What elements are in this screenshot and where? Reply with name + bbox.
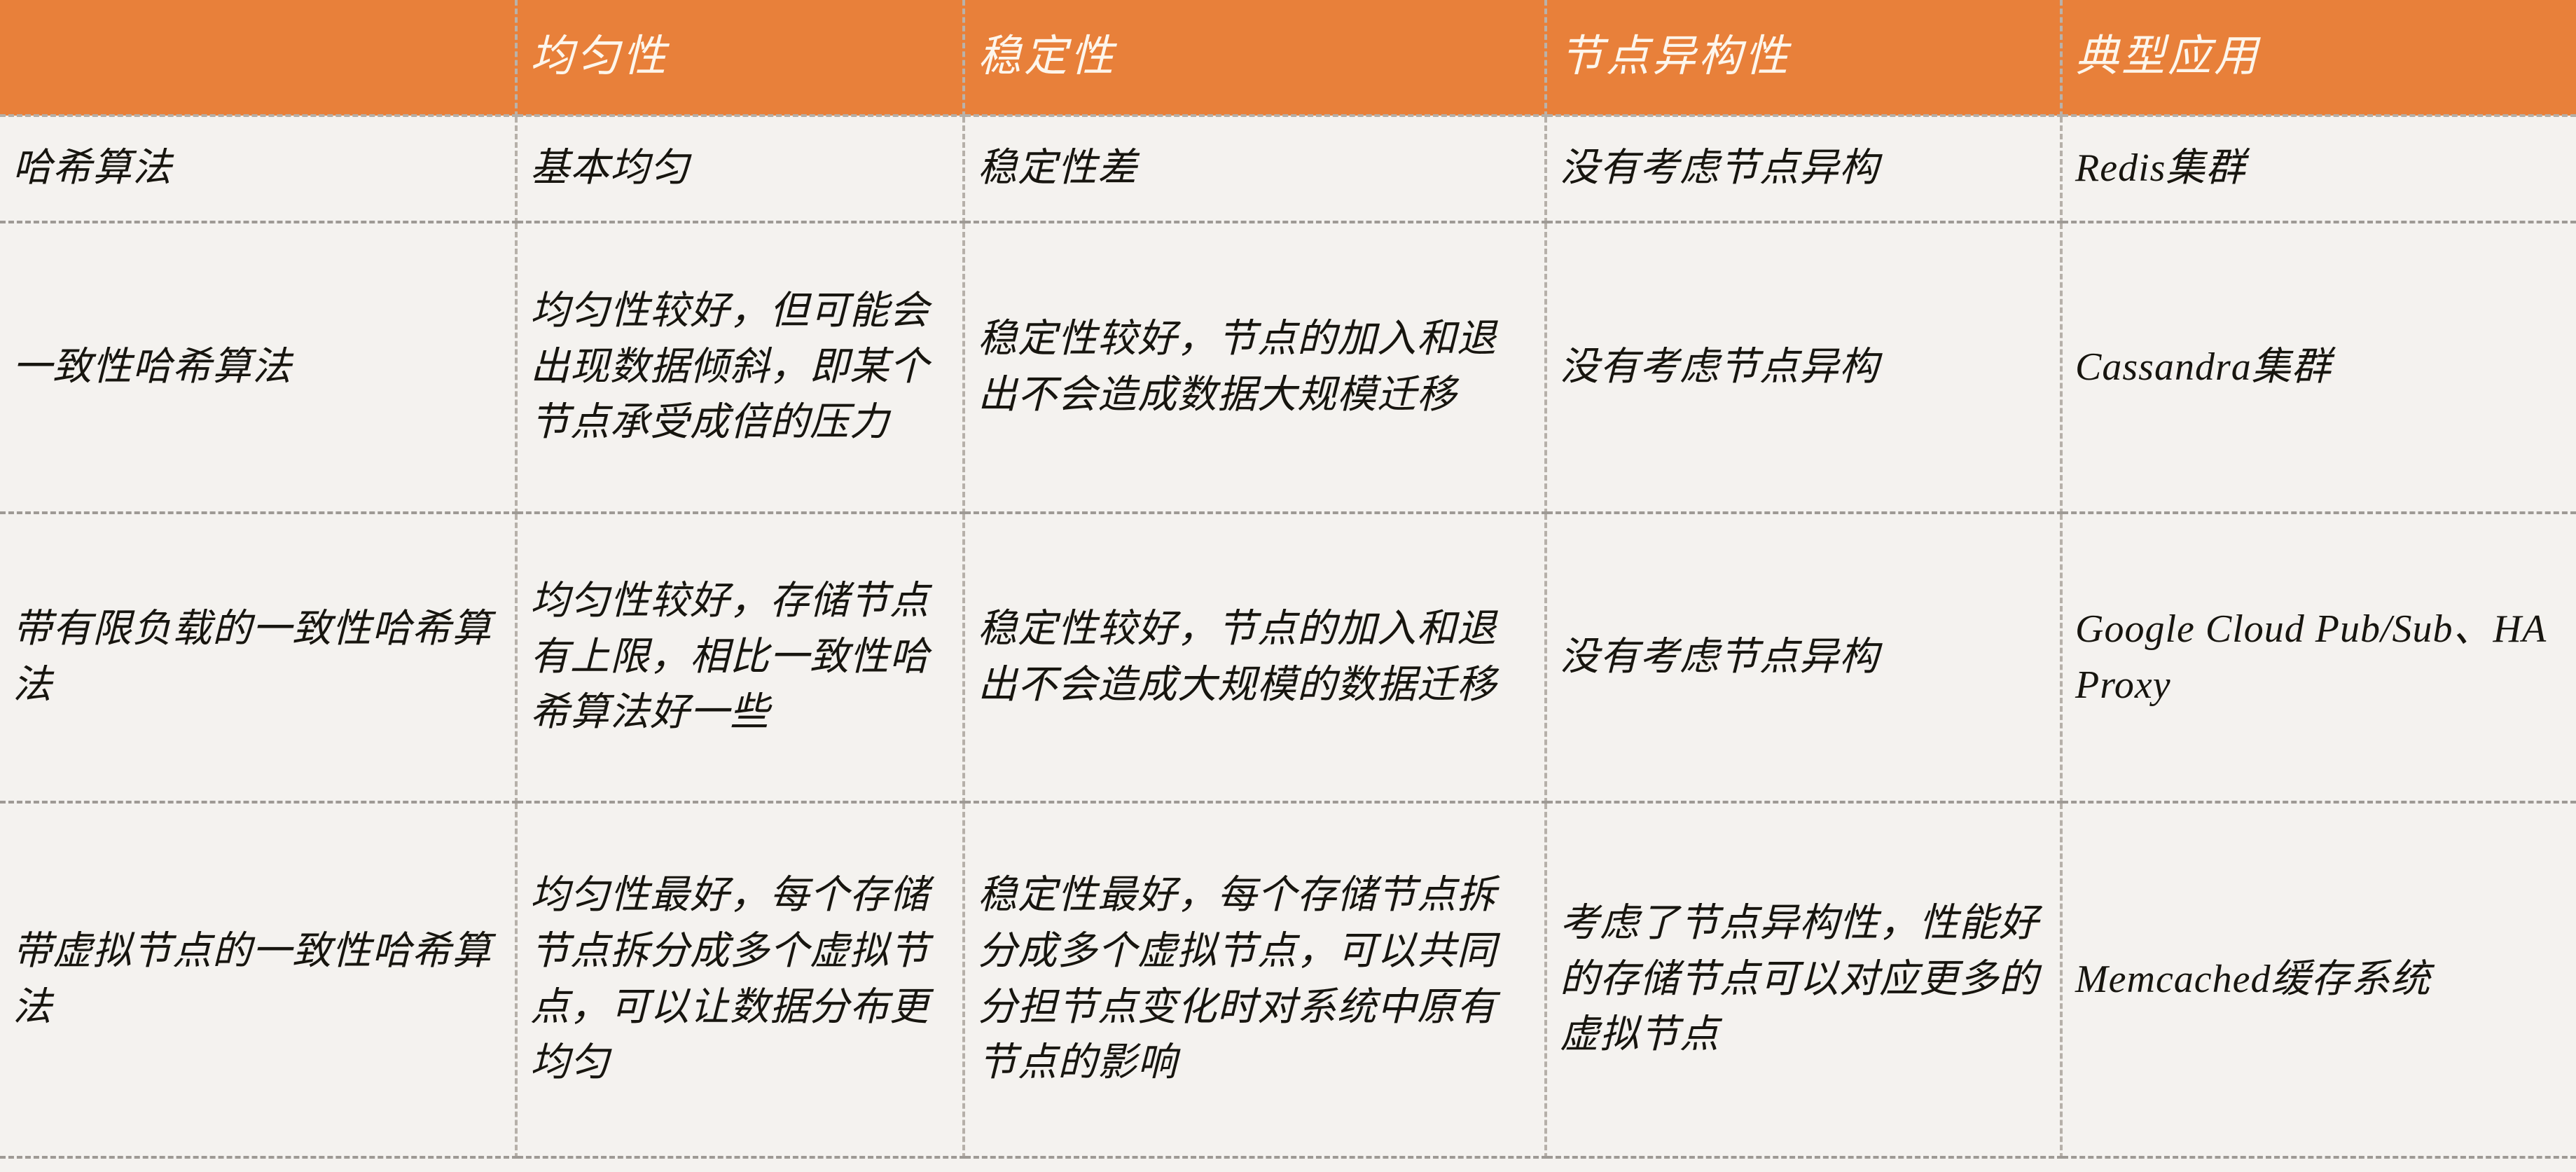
cell-algorithm: 带有限负载的一致性哈希算法 — [0, 513, 516, 802]
comparison-table-container: 均匀性 稳定性 节点异构性 典型应用 哈希算法 基本均匀 稳定性差 没有考虑节点… — [0, 0, 2576, 1172]
cell-uniformity: 基本均匀 — [516, 116, 964, 222]
table-row: 一致性哈希算法 均匀性较好，但可能会出现数据倾斜，即某个节点承受成倍的压力 稳定… — [0, 222, 2576, 513]
node-heterogeneity-column-header: 节点异构性 — [1546, 0, 2061, 116]
table-body: 哈希算法 基本均匀 稳定性差 没有考虑节点异构 Redis集群 一致性哈希算法 … — [0, 116, 2576, 1157]
table-header-row: 均匀性 稳定性 节点异构性 典型应用 — [0, 0, 2576, 116]
table-row: 哈希算法 基本均匀 稳定性差 没有考虑节点异构 Redis集群 — [0, 116, 2576, 222]
algorithm-column-header — [0, 0, 516, 116]
cell-heterogeneity: 没有考虑节点异构 — [1546, 513, 2061, 802]
cell-stability: 稳定性较好，节点的加入和退出不会造成大规模的数据迁移 — [964, 513, 1546, 802]
cell-application: Cassandra集群 — [2061, 222, 2576, 513]
cell-algorithm: 一致性哈希算法 — [0, 222, 516, 513]
cell-stability: 稳定性差 — [964, 116, 1546, 222]
cell-application: Google Cloud Pub/Sub、HAProxy — [2061, 513, 2576, 802]
cell-stability: 稳定性最好，每个存储节点拆分成多个虚拟节点，可以共同分担节点变化时对系统中原有节… — [964, 802, 1546, 1157]
cell-uniformity: 均匀性较好，但可能会出现数据倾斜，即某个节点承受成倍的压力 — [516, 222, 964, 513]
table-header: 均匀性 稳定性 节点异构性 典型应用 — [0, 0, 2576, 116]
cell-algorithm: 哈希算法 — [0, 116, 516, 222]
cell-application: Redis集群 — [2061, 116, 2576, 222]
table-row: 带虚拟节点的一致性哈希算法 均匀性最好，每个存储节点拆分成多个虚拟节点，可以让数… — [0, 802, 2576, 1157]
cell-heterogeneity: 没有考虑节点异构 — [1546, 116, 2061, 222]
algorithm-comparison-table: 均匀性 稳定性 节点异构性 典型应用 哈希算法 基本均匀 稳定性差 没有考虑节点… — [0, 0, 2576, 1159]
stability-column-header: 稳定性 — [964, 0, 1546, 116]
uniformity-column-header: 均匀性 — [516, 0, 964, 116]
cell-heterogeneity: 没有考虑节点异构 — [1546, 222, 2061, 513]
typical-application-column-header: 典型应用 — [2061, 0, 2576, 116]
cell-heterogeneity: 考虑了节点异构性，性能好的存储节点可以对应更多的虚拟节点 — [1546, 802, 2061, 1157]
cell-uniformity: 均匀性最好，每个存储节点拆分成多个虚拟节点，可以让数据分布更均匀 — [516, 802, 964, 1157]
cell-stability: 稳定性较好，节点的加入和退出不会造成数据大规模迁移 — [964, 222, 1546, 513]
table-row: 带有限负载的一致性哈希算法 均匀性较好，存储节点有上限，相比一致性哈希算法好一些… — [0, 513, 2576, 802]
cell-uniformity: 均匀性较好，存储节点有上限，相比一致性哈希算法好一些 — [516, 513, 964, 802]
cell-algorithm: 带虚拟节点的一致性哈希算法 — [0, 802, 516, 1157]
cell-application: Memcached缓存系统 — [2061, 802, 2576, 1157]
